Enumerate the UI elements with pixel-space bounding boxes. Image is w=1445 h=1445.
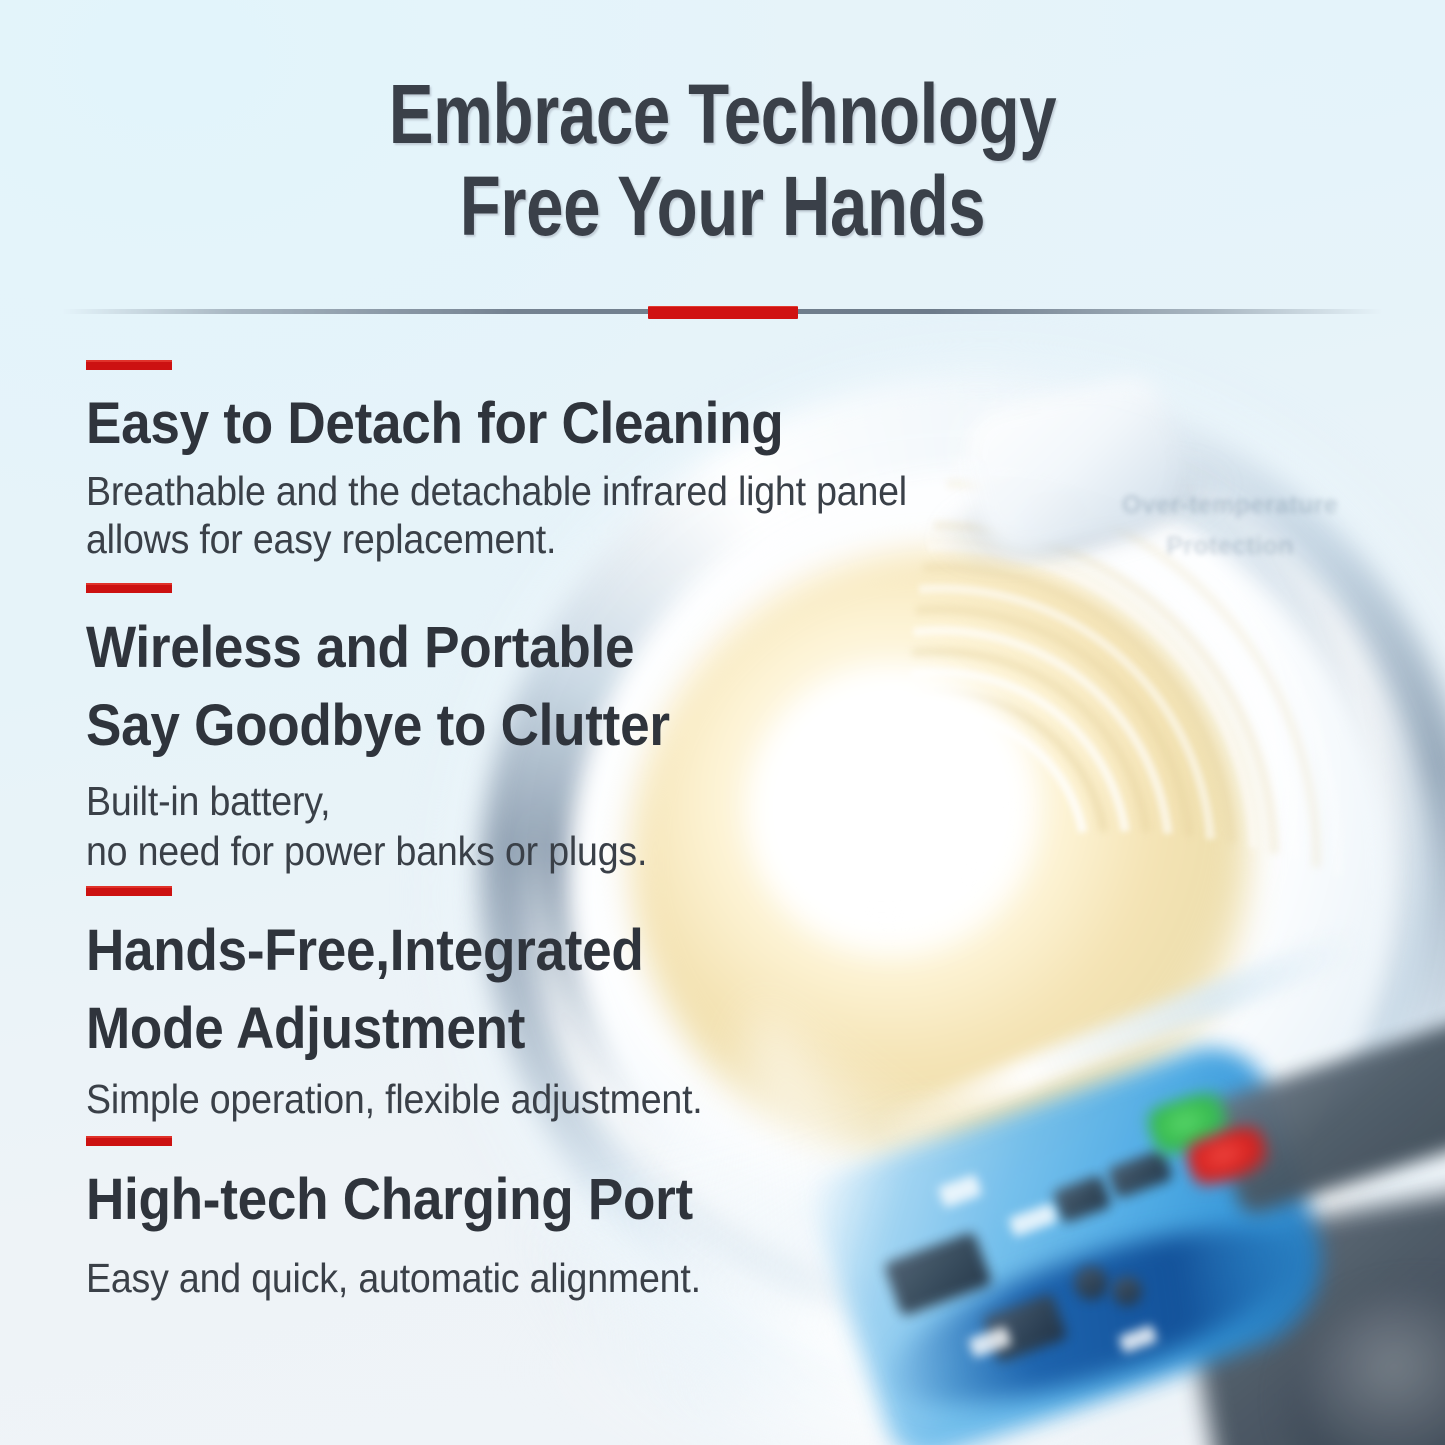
feature-heading: High-tech Charging Port — [86, 1162, 701, 1237]
feature-body: Built-in battery, no need for power bank… — [86, 776, 670, 876]
feature-body: Easy and quick, automatic alignment. — [86, 1255, 701, 1303]
divider-red-accent — [648, 306, 798, 319]
feature-accent-bar — [86, 360, 172, 370]
feature-block-4: High-tech Charging Port Easy and quick, … — [86, 1136, 758, 1303]
feature-accent-bar — [86, 583, 172, 593]
feature-heading: Hands-Free,Integrated Mode Adjustment — [86, 912, 703, 1069]
feature-heading: Wireless and Portable Say Goodbye to Clu… — [86, 609, 670, 766]
feature-body: Simple operation, flexible adjustment. — [86, 1076, 703, 1124]
feature-block-2: Wireless and Portable Say Goodbye to Clu… — [86, 583, 724, 876]
feature-accent-bar — [86, 1136, 172, 1146]
title-divider — [62, 309, 1383, 314]
feature-heading: Easy to Detach for Cleaning — [86, 386, 907, 461]
feature-block-1: Easy to Detach for Cleaning Breathable a… — [86, 360, 983, 564]
feature-block-3: Hands-Free,Integrated Mode Adjustment Si… — [86, 886, 760, 1124]
marketing-banner: Over-temperature Protection Embrace Tech… — [0, 0, 1445, 1445]
feature-accent-bar — [86, 886, 172, 896]
feature-body: Breathable and the detachable infrared l… — [86, 468, 907, 564]
page-title: Embrace Technology Free Your Hands — [145, 68, 1301, 253]
content-layer: Embrace Technology Free Your Hands Easy … — [0, 0, 1445, 1445]
